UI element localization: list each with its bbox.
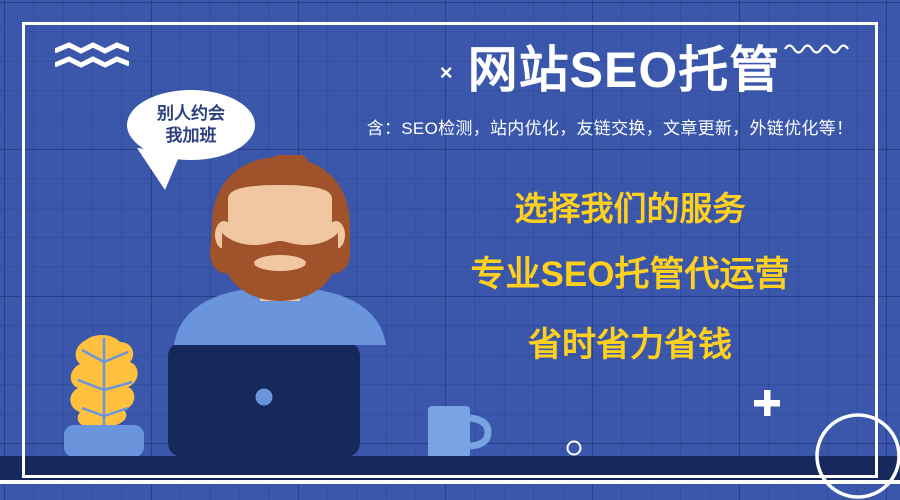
speech-bubble: 别人约会 我加班 — [127, 90, 255, 160]
laptop-icon — [168, 342, 360, 457]
speech-bubble-line-1: 别人约会 — [157, 103, 225, 125]
speech-bubble-line-2: 我加班 — [166, 125, 217, 147]
potted-plant-icon — [64, 335, 144, 457]
speech-bubble-tail — [135, 146, 191, 192]
desk-surface — [0, 456, 900, 484]
slogan-line-3: 省时省力省钱 — [430, 328, 830, 362]
star-icon: × — [440, 62, 454, 84]
slogan-list: 选择我们的服务 专业SEO托管代运营 省时省力省钱 — [430, 192, 830, 362]
seo-promo-banner: 别人约会 我加班 × 网站SEO托管 含：SEO检测，站内优化，友链交换，文章更… — [0, 0, 900, 500]
page-title: × 网站SEO托管 — [330, 44, 890, 97]
title-block: × 网站SEO托管 含：SEO检测，站内优化，友链交换，文章更新，外链优化等！ — [330, 44, 890, 139]
slogan-line-2: 专业SEO托管代运营 — [430, 257, 830, 292]
slogan-line-1: 选择我们的服务 — [430, 192, 830, 225]
coffee-mug-icon — [428, 406, 488, 458]
page-title-text: 网站SEO托管 — [468, 44, 781, 97]
page-subtitle: 含：SEO检测，站内优化，友链交换，文章更新，外链优化等！ — [330, 114, 890, 139]
